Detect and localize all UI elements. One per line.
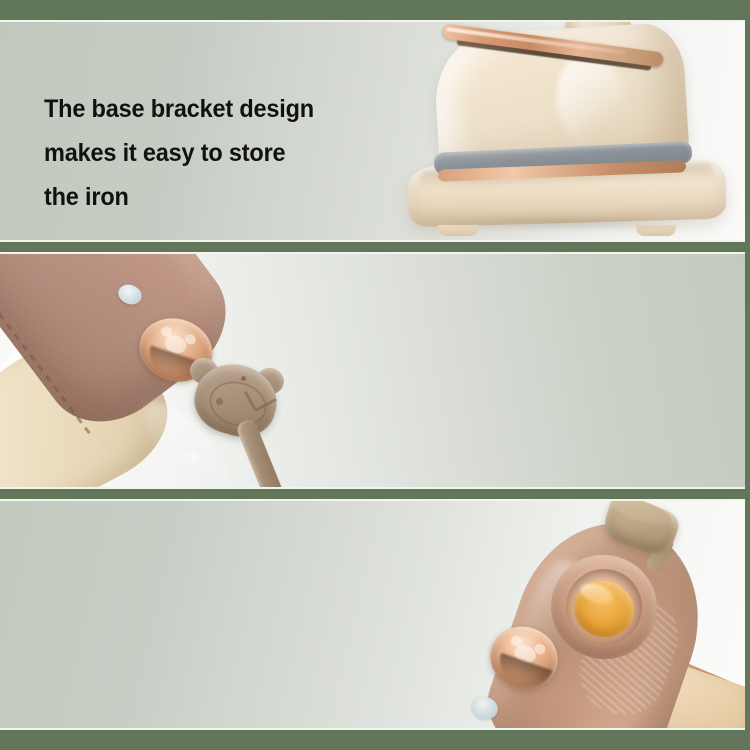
- panel-divider-1: [0, 242, 750, 252]
- frame-hairline-bottom: [0, 728, 750, 730]
- divider-1-hairline-top: [0, 240, 750, 242]
- divider-1-hairline-bottom: [0, 252, 750, 254]
- divider-2-hairline-top: [0, 487, 750, 489]
- frame-band-top: [0, 0, 750, 20]
- base-drop-shadow: [426, 217, 712, 229]
- divider-2-hairline-bottom: [0, 499, 750, 501]
- frame-hairline-top: [0, 20, 750, 22]
- feature-panel-one-touch: One-touch switching between dry and wet …: [0, 252, 750, 489]
- bear-eye-icon: [216, 398, 223, 405]
- feature-panel-base-bracket: The base bracket design makes it easy to…: [0, 21, 750, 242]
- iron-on-base-illustration: [390, 21, 750, 242]
- frame-edge-right: [745, 0, 750, 750]
- frame-band-bottom: [0, 730, 750, 750]
- bear-nose-icon: [241, 376, 246, 381]
- caption-line: the iron: [44, 175, 314, 219]
- caption-line: The base bracket design: [44, 87, 314, 131]
- water-tank-illustration: [390, 499, 750, 730]
- caption-base-bracket: The base bracket design makes it easy to…: [44, 87, 314, 219]
- panel-divider-2: [0, 489, 750, 499]
- caption-line: makes it easy to store: [44, 131, 314, 175]
- iron-controls-illustration: [0, 252, 380, 489]
- feature-panel-water-tank: Large-capacity water tank, no need to ad…: [0, 499, 750, 730]
- product-feature-poster: The base bracket design makes it easy to…: [0, 0, 750, 750]
